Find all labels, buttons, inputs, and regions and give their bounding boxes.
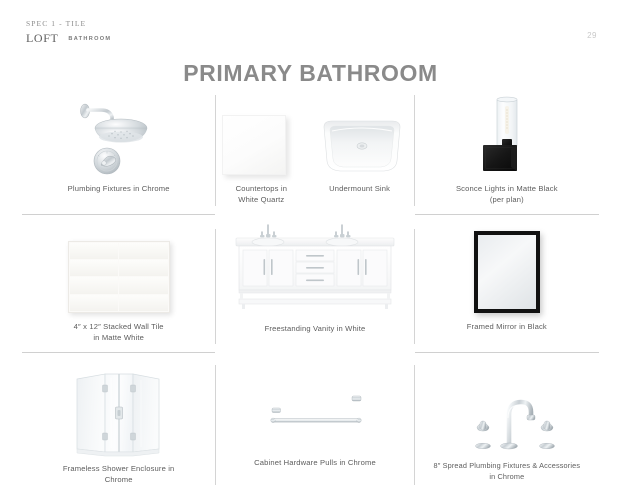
row-divider xyxy=(415,214,599,215)
product-caption: 4″ x 12″ Stacked Wall Tile xyxy=(74,321,164,332)
product-row: 4″ x 12″ Stacked Wall Tile in Matte Whit… xyxy=(22,229,599,344)
product-grid: Plumbing Fixtures in Chrome xyxy=(22,95,599,485)
product-cell-plumbing-fixtures[interactable]: Plumbing Fixtures in Chrome xyxy=(22,95,215,206)
product-cell-countertop-and-sink[interactable]: Countertops in White Quartz Undermount S… xyxy=(216,95,413,206)
spec-board-page: SPEC 1 - TILE LOFT BATHROOM 29 PRIMARY B… xyxy=(0,0,621,480)
product-caption: Countertops in xyxy=(236,183,288,194)
spec-label: SPEC 1 - TILE xyxy=(26,20,111,28)
section-label: BATHROOM xyxy=(68,37,111,44)
product-caption: Freestanding Vanity in White xyxy=(265,323,366,334)
quartz-slab-sample-icon xyxy=(222,115,286,175)
product-caption-line2: White Quartz xyxy=(238,194,284,205)
row-divider xyxy=(22,352,215,353)
product-cell-cabinet-pulls[interactable]: Cabinet Hardware Pulls in Chrome xyxy=(216,365,413,485)
product-row: Frameless Shower Enclosure in Chrome xyxy=(22,365,599,485)
product-cell-shower-enclosure[interactable]: Frameless Shower Enclosure in Chrome xyxy=(22,365,215,485)
product-row: Plumbing Fixtures in Chrome xyxy=(22,95,599,206)
frameless-shower-enclosure-icon xyxy=(28,365,209,455)
product-caption: Cabinet Hardware Pulls in Chrome xyxy=(254,457,376,468)
product-cell-widespread-faucet[interactable]: 8″ Spread Plumbing Fixtures & Accessorie… xyxy=(415,365,599,485)
cabinet-pull-bar-icon xyxy=(222,365,407,455)
row-divider-group xyxy=(22,214,599,215)
product-caption-line2: (per plan) xyxy=(490,194,524,205)
framed-mirror-icon xyxy=(421,229,593,313)
product-cell-vanity[interactable]: Freestanding Vanity in White xyxy=(216,229,413,344)
stacked-wall-tile-icon xyxy=(28,229,209,313)
product-caption: 8″ Spread Plumbing Fixtures & Accessorie… xyxy=(434,461,581,472)
widespread-faucet-set-icon xyxy=(421,365,593,455)
product-caption: Framed Mirror in Black xyxy=(467,321,547,332)
wall-sconce-icon xyxy=(421,95,593,175)
brand-row: LOFT BATHROOM xyxy=(26,32,111,44)
product-caption-line2: in Chrome xyxy=(489,472,524,483)
undermount-sink-icon xyxy=(316,117,408,175)
brand-block: SPEC 1 - TILE LOFT BATHROOM xyxy=(26,20,111,44)
shower-head-and-valve-trim-icon xyxy=(28,95,209,175)
page-number: 29 xyxy=(587,31,597,40)
product-caption: Undermount Sink xyxy=(329,183,390,194)
product-subcell-countertop[interactable] xyxy=(222,115,286,175)
double-vanity-icon xyxy=(222,229,407,313)
product-subcell-sink[interactable] xyxy=(316,117,408,175)
product-cell-wall-tile[interactable]: 4″ x 12″ Stacked Wall Tile in Matte Whit… xyxy=(22,229,215,344)
row-divider-group xyxy=(22,352,599,353)
product-caption-line2: Chrome xyxy=(105,474,133,485)
product-caption-line2: in Matte White xyxy=(93,332,144,343)
product-cell-sconce[interactable]: Sconce Lights in Matte Black (per plan) xyxy=(415,95,599,206)
page-title: PRIMARY BATHROOM xyxy=(0,60,621,87)
brand-name: LOFT xyxy=(26,32,58,44)
product-cell-mirror[interactable]: Framed Mirror in Black xyxy=(415,229,599,344)
row-divider xyxy=(22,214,215,215)
product-caption: Sconce Lights in Matte Black xyxy=(456,183,558,194)
product-caption: Plumbing Fixtures in Chrome xyxy=(68,183,170,194)
row-divider xyxy=(415,352,599,353)
product-caption: Frameless Shower Enclosure in xyxy=(63,463,175,474)
